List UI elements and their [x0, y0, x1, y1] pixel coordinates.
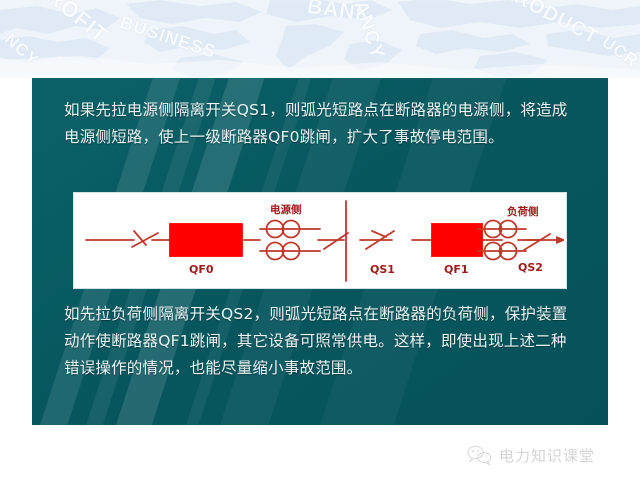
single-line-diagram: 电源侧 负荷侧 QF0 QS1 QF1 QS2: [73, 192, 567, 289]
label-qf1: QF1: [444, 263, 469, 276]
label-source-side: 电源侧: [270, 203, 302, 216]
label-qs1: QS1: [370, 263, 395, 276]
output-arrow-icon: [556, 236, 564, 244]
paragraph-load-side-scenario: 如先拉负荷侧隔离开关QS2，则弧光短路点在断路器的负荷侧，保护装置动作使断路器Q…: [64, 301, 580, 382]
slide-canvas: PROFIT NCY BUSINESS BANK FINANCY PRODUCT…: [0, 0, 640, 480]
label-qf0: QF0: [189, 263, 214, 276]
content-panel: 如果先拉电源侧隔离开关QS1，则弧光短路点在断路器的电源侧，将造成电源侧短路，使…: [32, 78, 608, 425]
paragraph-source-side-scenario: 如果先拉电源侧隔离开关QS1，则弧光短路点在断路器的电源侧，将造成电源侧短路，使…: [64, 97, 576, 151]
circuit-diagram-graphic: 电源侧 负荷侧 QF0 QS1 QF1 QS2: [74, 193, 564, 286]
label-load-side: 负荷侧: [507, 205, 539, 218]
footer-brand: 电力知识课堂: [466, 440, 626, 470]
header-banner: PROFIT NCY BUSINESS BANK FINANCY PRODUCT…: [0, 0, 640, 78]
label-qs2: QS2: [518, 261, 543, 274]
footer-brand-text: 电力知识课堂: [499, 445, 595, 466]
wechat-icon: [466, 444, 492, 466]
